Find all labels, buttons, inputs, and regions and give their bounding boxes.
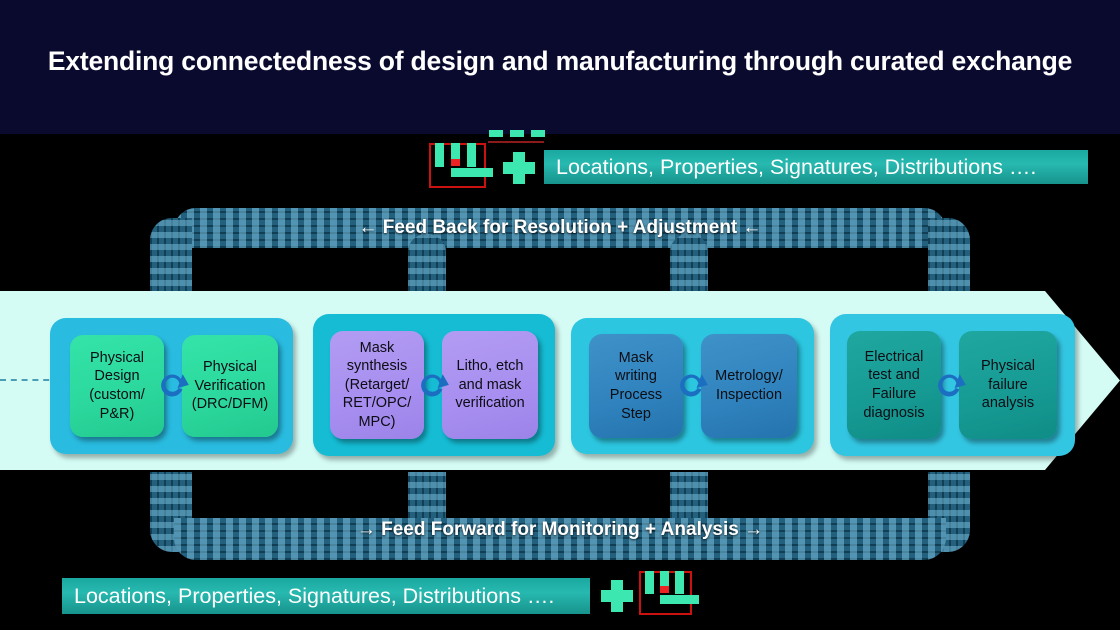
feedforward-pipe[interactable]: → Feed Forward for Monitoring + Analysis…: [150, 472, 970, 562]
box-line: RET/OPC/: [343, 395, 411, 411]
box-line: Mask: [360, 340, 395, 356]
top-exchange-label-bar: Locations, Properties, Signatures, Distr…: [544, 150, 1088, 184]
cycle-arrow-icon: [413, 366, 453, 406]
title-banner: Extending connectedness of design and ma…: [0, 0, 1120, 134]
cycle-arrow-icon: [672, 366, 712, 406]
fab-group-box-2[interactable]: Metrology/ Inspection: [701, 334, 797, 438]
box-line: analysis: [982, 395, 1034, 411]
mask-group-box-2[interactable]: Litho, etch and mask verification: [442, 331, 538, 439]
mask-group-box-1[interactable]: Mask synthesis (Retarget/ RET/OPC/ MPC): [330, 331, 424, 439]
box-line: Physical: [981, 358, 1035, 374]
box-line: Design: [94, 368, 139, 384]
cycle-arrow-icon: [930, 366, 970, 406]
box-line: (custom/: [89, 387, 145, 403]
box-line: MPC): [358, 414, 395, 430]
box-line: Step: [621, 406, 651, 422]
feedback-pipe[interactable]: ← Feed Back for Resolution + Adjustment …: [150, 208, 970, 298]
box-line: Verification: [195, 378, 266, 394]
box-line: Mask: [619, 350, 654, 366]
fab-group-box-1[interactable]: Mask writing Process Step: [589, 334, 683, 438]
feedforward-pipe-label: → Feed Forward for Monitoring + Analysis…: [150, 519, 970, 541]
box-line: and mask: [459, 377, 522, 393]
box-line: failure: [988, 377, 1028, 393]
chip-layout-icon: [429, 143, 486, 188]
slide-canvas: Extending connectedness of design and ma…: [0, 0, 1120, 630]
test-group-box-1[interactable]: Electrical test and Failure diagnosis: [847, 331, 941, 439]
feedback-pipe-label: ← Feed Back for Resolution + Adjustment …: [150, 217, 970, 239]
bottom-exchange-label-bar: Locations, Properties, Signatures, Distr…: [62, 578, 590, 614]
box-line: synthesis: [347, 358, 407, 374]
test-group-box-2[interactable]: Physical failure analysis: [959, 331, 1057, 439]
design-group-box-1[interactable]: Physical Design (custom/ P&R): [70, 335, 164, 437]
cycle-arrow-icon: [153, 366, 193, 406]
box-line: Litho, etch: [457, 358, 524, 374]
box-line: Electrical: [865, 349, 924, 365]
bottom-exchange-label: Locations, Properties, Signatures, Distr…: [74, 584, 554, 609]
box-line: Failure: [872, 386, 916, 402]
box-line: (DRC/DFM): [192, 396, 269, 412]
plus-icon: [503, 152, 535, 184]
box-line: writing: [615, 368, 657, 384]
box-line: P&R): [100, 406, 135, 422]
design-group-box-2[interactable]: Physical Verification (DRC/DFM): [182, 335, 278, 437]
box-line: test and: [868, 367, 920, 383]
top-exchange-label: Locations, Properties, Signatures, Distr…: [556, 155, 1036, 180]
page-title: Extending connectedness of design and ma…: [0, 46, 1120, 77]
top-icon-dash-row: [489, 130, 545, 139]
box-line: Physical: [203, 359, 257, 375]
box-line: diagnosis: [863, 405, 924, 421]
plus-icon: [601, 580, 633, 612]
top-icon-baseline: [488, 141, 544, 143]
box-line: Inspection: [716, 387, 782, 403]
box-line: verification: [455, 395, 524, 411]
box-line: (Retarget/: [345, 377, 409, 393]
box-line: Physical: [90, 350, 144, 366]
box-line: Metrology/: [715, 368, 783, 384]
box-line: Process: [610, 387, 662, 403]
chip-layout-icon: [639, 571, 692, 615]
